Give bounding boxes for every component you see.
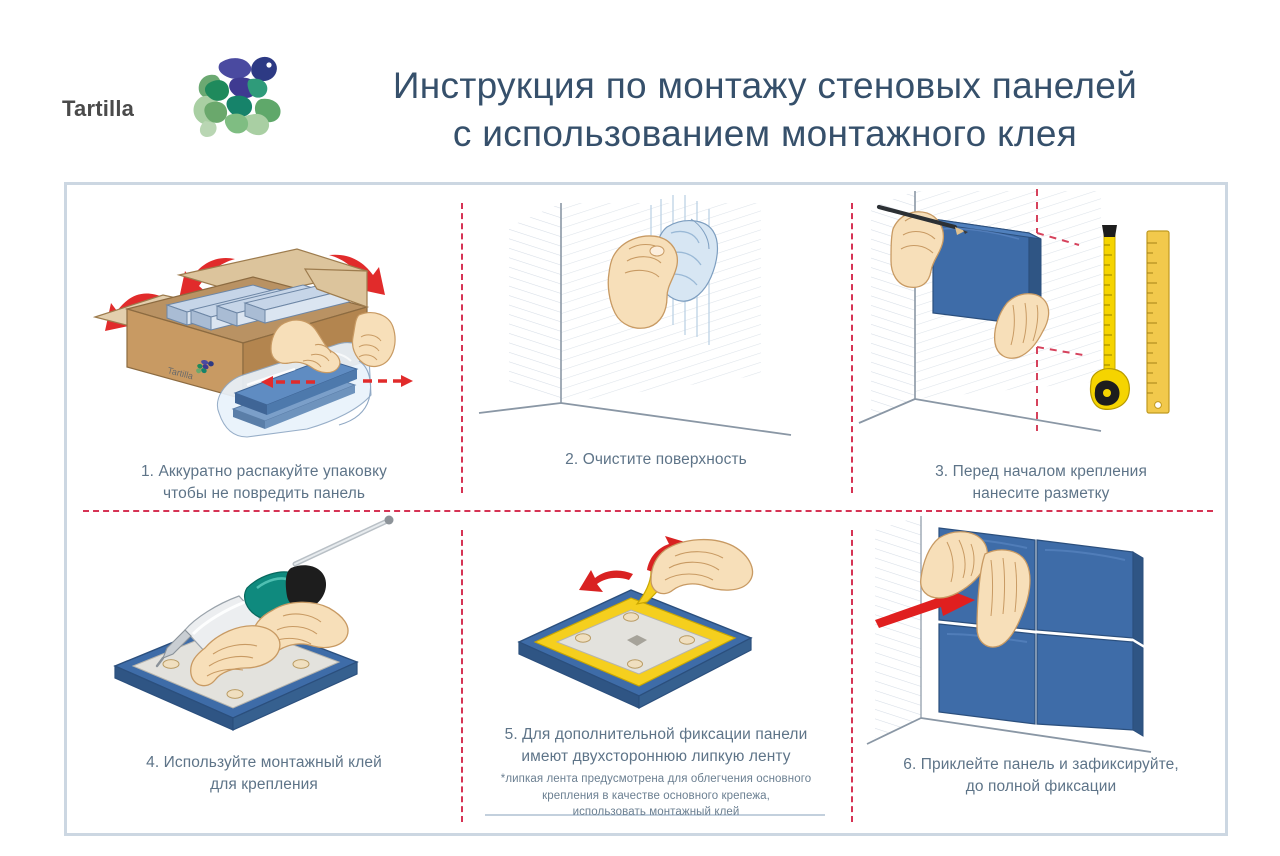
page-title-line-2: с использованием монтажного клея <box>290 110 1240 158</box>
step-5-footnote-line-2: крепления в качестве основного крепежа, <box>461 788 851 804</box>
step-3-caption-line-1: 3. Перед началом крепления <box>851 461 1231 483</box>
step-5-footnote: *липкая лента предусмотрена для облегчен… <box>461 771 851 820</box>
step-6-cell: 6. Приклейте панель и зафиксируйте, до п… <box>851 512 1231 839</box>
step-3-caption: 3. Перед началом крепления нанесите разм… <box>851 461 1231 504</box>
step-4-caption-line-1: 4. Используйте монтажный клей <box>67 752 461 774</box>
step-2-cell: 2. Очистите поверхность <box>461 185 851 512</box>
step-3-caption-line-2: нанесите разметку <box>851 483 1231 505</box>
step-1-caption-line-2: чтобы не повредить панель <box>67 483 461 505</box>
step-3-cell: 3. Перед началом крепления нанесите разм… <box>851 185 1231 512</box>
step-1-caption-line-1: 1. Аккуратно распакуйте упаковку <box>67 461 461 483</box>
step-5-footnote-line-3: использовать монтажный клей <box>461 804 851 820</box>
page-header: Tartilla Инструкция по монтажу стен <box>0 0 1280 182</box>
step-6-caption-line-1: 6. Приклейте панель и зафиксируйте, <box>851 754 1231 776</box>
step-5-caption-line-2: имеют двухстороннюю липкую ленту <box>461 746 851 768</box>
page-title: Инструкция по монтажу стеновых панелей с… <box>290 62 1240 158</box>
step-5-cell: 5. Для дополнительной фиксации панели им… <box>461 512 851 839</box>
step-4-caption-line-2: для крепления <box>67 774 461 796</box>
step-4-cell: 4. Используйте монтажный клей для крепле… <box>67 512 461 839</box>
step-5-caption: 5. Для дополнительной фиксации панели им… <box>461 724 851 820</box>
step-5-footnote-line-1: *липкая лента предусмотрена для облегчен… <box>461 771 851 787</box>
step-2-caption: 2. Очистите поверхность <box>461 449 851 471</box>
step-1-cell: Tartilla <box>67 185 461 512</box>
brand-name: Tartilla <box>62 96 182 122</box>
step-5-caption-line-1: 5. Для дополнительной фиксации панели <box>461 724 851 746</box>
step-6-caption: 6. Приклейте панель и зафиксируйте, до п… <box>851 754 1231 797</box>
instruction-panel-frame: Tartilla <box>64 182 1228 836</box>
step-6-caption-line-2: до полной фиксации <box>851 776 1231 798</box>
step-4-caption: 4. Используйте монтажный клей для крепле… <box>67 752 461 795</box>
step-1-caption: 1. Аккуратно распакуйте упаковку чтобы н… <box>67 461 461 504</box>
turtle-logo-icon <box>185 45 290 145</box>
step-2-caption-line-1: 2. Очистите поверхность <box>461 449 851 471</box>
page-title-line-1: Инструкция по монтажу стеновых панелей <box>393 65 1137 106</box>
